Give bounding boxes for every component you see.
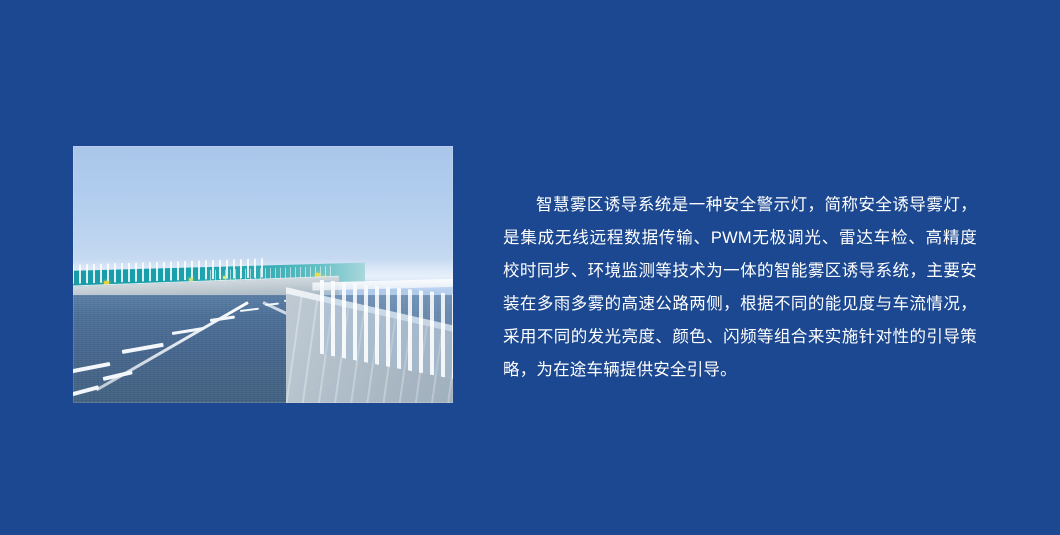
photo-scene (73, 146, 453, 403)
description-paragraph: 智慧雾区诱导系统是一种安全警示灯，简称安全诱导雾灯，是集成无线远程数据传输、PW… (503, 189, 977, 387)
slide-canvas: 智慧雾区诱导系统是一种安全警示灯，简称安全诱导雾灯，是集成无线远程数据传输、PW… (0, 0, 1060, 535)
reflector-light-3 (223, 276, 226, 279)
highway-photo (73, 146, 453, 403)
